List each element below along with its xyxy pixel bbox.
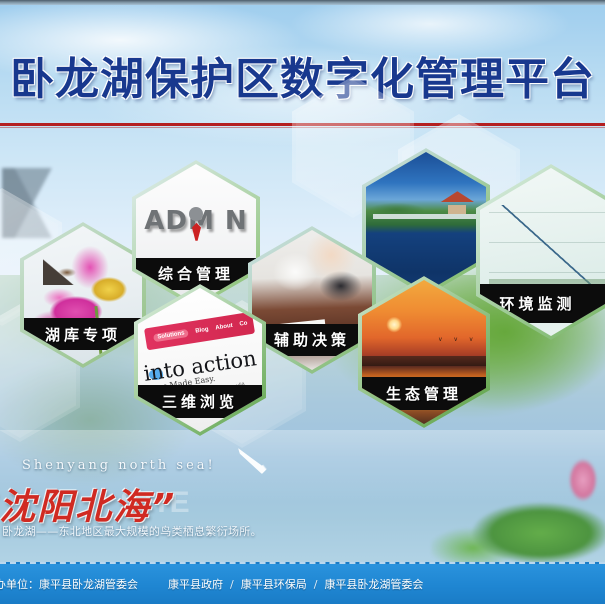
page-title: 卧龙湖保护区数字化管理平台 bbox=[0, 50, 605, 112]
page-title-text: 卧龙湖保护区数字化管理平台 bbox=[0, 50, 605, 110]
hex-item-comprehensive[interactable]: ADM N 综合管理 bbox=[132, 160, 260, 308]
footer-separator-2: / bbox=[314, 578, 318, 591]
page-root: 卧龙湖保护区数字化管理平台 湖库专项 bbox=[0, 0, 605, 604]
moth-icon bbox=[43, 259, 83, 285]
hex-item-ecology[interactable]: ᵛ ᵛ ᵛ 生态管理 bbox=[358, 276, 490, 428]
hero-subtitle: 卧龙湖——东北地区最大规模的鸟类栖息繁衍场所。 bbox=[2, 523, 262, 539]
footer-bar: 主办单位：康平县卧龙湖管委会 康平县政府 / 康平县环保局 / 康平县卧龙湖管委… bbox=[0, 562, 605, 604]
lotus-bud-decoration bbox=[563, 452, 603, 508]
hex-label-ecology: 生态管理 bbox=[362, 377, 486, 410]
footer-host: 主办单位：康平县卧龙湖管委会 bbox=[0, 576, 138, 592]
footer-separator-1: / bbox=[230, 578, 234, 591]
hero-english-tagline: Shenyang north sea! bbox=[22, 458, 216, 473]
hex-label-comprehensive: 综合管理 bbox=[136, 258, 256, 290]
footer-link-committee[interactable]: 康平县卧龙湖管委会 bbox=[324, 576, 423, 592]
flying-birds-icon: ᵛ ᵛ ᵛ bbox=[439, 335, 485, 345]
top-edge-strip bbox=[0, 0, 605, 5]
hex-menu: 湖库专项 ADM N 综合管理 辅助决策 bbox=[0, 128, 605, 438]
footer-link-epb[interactable]: 康平县环保局 bbox=[241, 576, 307, 592]
footer-link-government[interactable]: 康平县政府 bbox=[168, 576, 223, 592]
footer-links: 康平县政府 / 康平县环保局 / 康平县卧龙湖管委会 bbox=[168, 576, 423, 592]
